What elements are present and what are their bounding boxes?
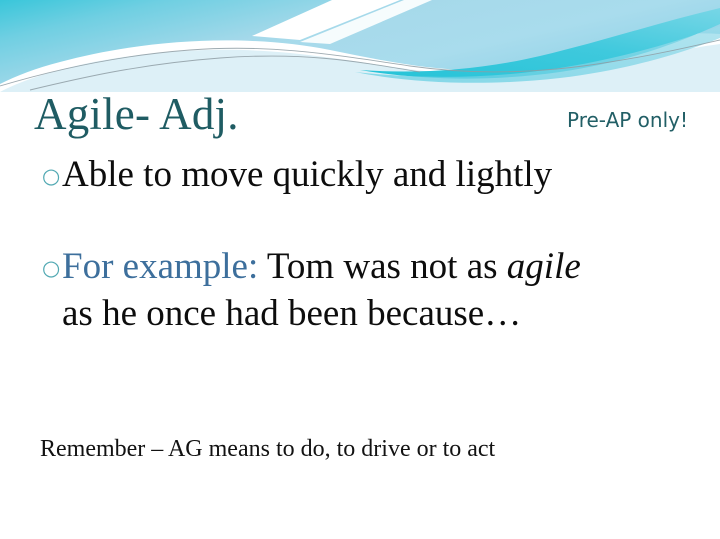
bullet-circle-icon: ○: [42, 246, 62, 291]
bullet-text: Able to move quickly and lightly: [62, 154, 552, 195]
bullet-line: ○For example: Tom was not as agile: [42, 244, 706, 291]
page-title: Agile- Adj.: [34, 88, 239, 140]
bullet-item-example: ○For example: Tom was not as agile as he…: [42, 244, 706, 336]
remember-note: Remember – AG means to do, to drive or t…: [40, 434, 495, 464]
emphasis-word: agile: [507, 246, 581, 287]
bullet-item-definition: ○Able to move quickly and lightly: [42, 152, 706, 199]
example-sentence-continuation: as he once had been because…: [62, 293, 521, 334]
bullet-circle-icon: ○: [42, 154, 62, 199]
bullet-line: ○Able to move quickly and lightly: [42, 152, 706, 199]
title-row: Agile- Adj. Pre-AP only!: [34, 88, 688, 146]
example-sentence-text: Tom was not as: [258, 246, 507, 287]
pre-ap-note: Pre-AP only!: [567, 108, 688, 132]
slide: Agile- Adj. Pre-AP only! ○Able to move q…: [0, 0, 720, 539]
bullet-line-continuation: as he once had been because…: [42, 291, 706, 336]
example-lead-label: For example:: [62, 246, 258, 287]
slide-content: Agile- Adj. Pre-AP only! ○Able to move q…: [0, 0, 720, 539]
